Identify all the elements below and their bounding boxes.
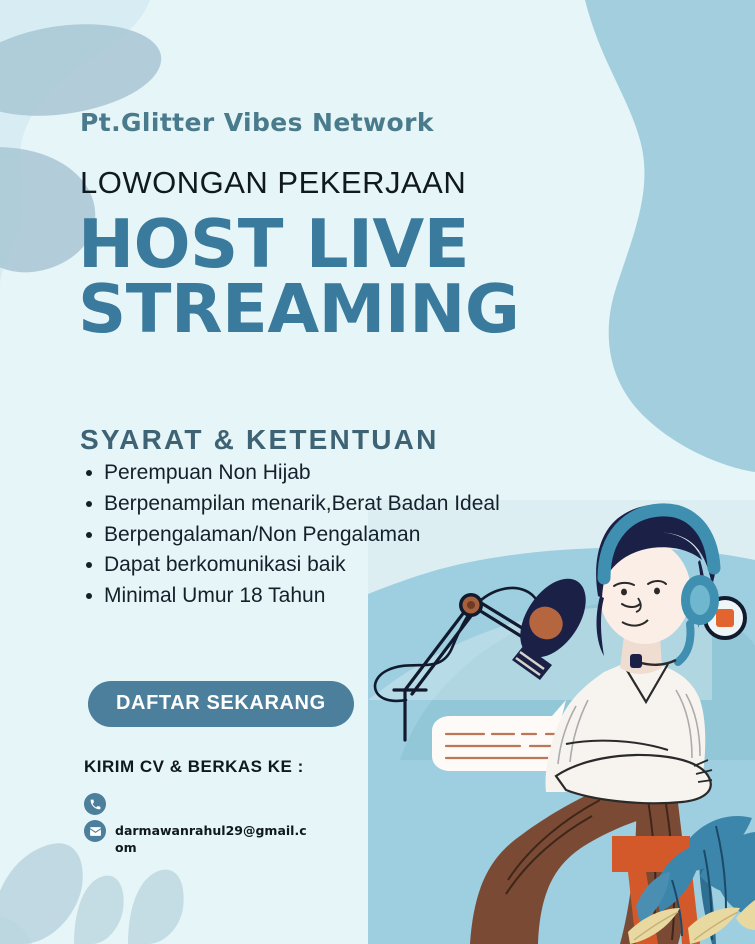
company-name: Pt.Glitter Vibes Network [80,108,434,137]
envelope-icon [84,820,106,842]
list-item: Dapat berkomunikasi baik [104,550,504,580]
headline-line-2: STREAMING [78,277,519,342]
send-cv-label: KIRIM CV & BERKAS KE : [84,757,304,777]
contact-phone-value [115,793,315,796]
contact-phone-row[interactable] [84,793,315,815]
contact-email-value: darmawanrahul29@gmail.com [115,820,315,857]
requirements-heading: SYARAT & KETENTUAN [80,424,439,456]
phone-icon [84,793,106,815]
list-item: Berpengalaman/Non Pengalaman [104,520,504,550]
register-now-button[interactable]: DAFTAR SEKARANG [88,681,354,727]
list-item: Minimal Umur 18 Tahun [104,581,504,611]
poster-subtitle: LOWONGAN PEKERJAAN [80,165,466,201]
headline-line-1: HOST LIVE [78,212,519,277]
job-poster: Pt.Glitter Vibes Network LOWONGAN PEKERJ… [0,0,755,944]
requirements-list: Perempuan Non Hijab Berpenampilan menari… [78,458,504,612]
list-item: Perempuan Non Hijab [104,458,504,488]
list-item: Berpenampilan menarik,Berat Badan Ideal [104,489,504,519]
contact-email-row[interactable]: darmawanrahul29@gmail.com [84,820,315,857]
page-title: HOST LIVE STREAMING [78,212,519,342]
